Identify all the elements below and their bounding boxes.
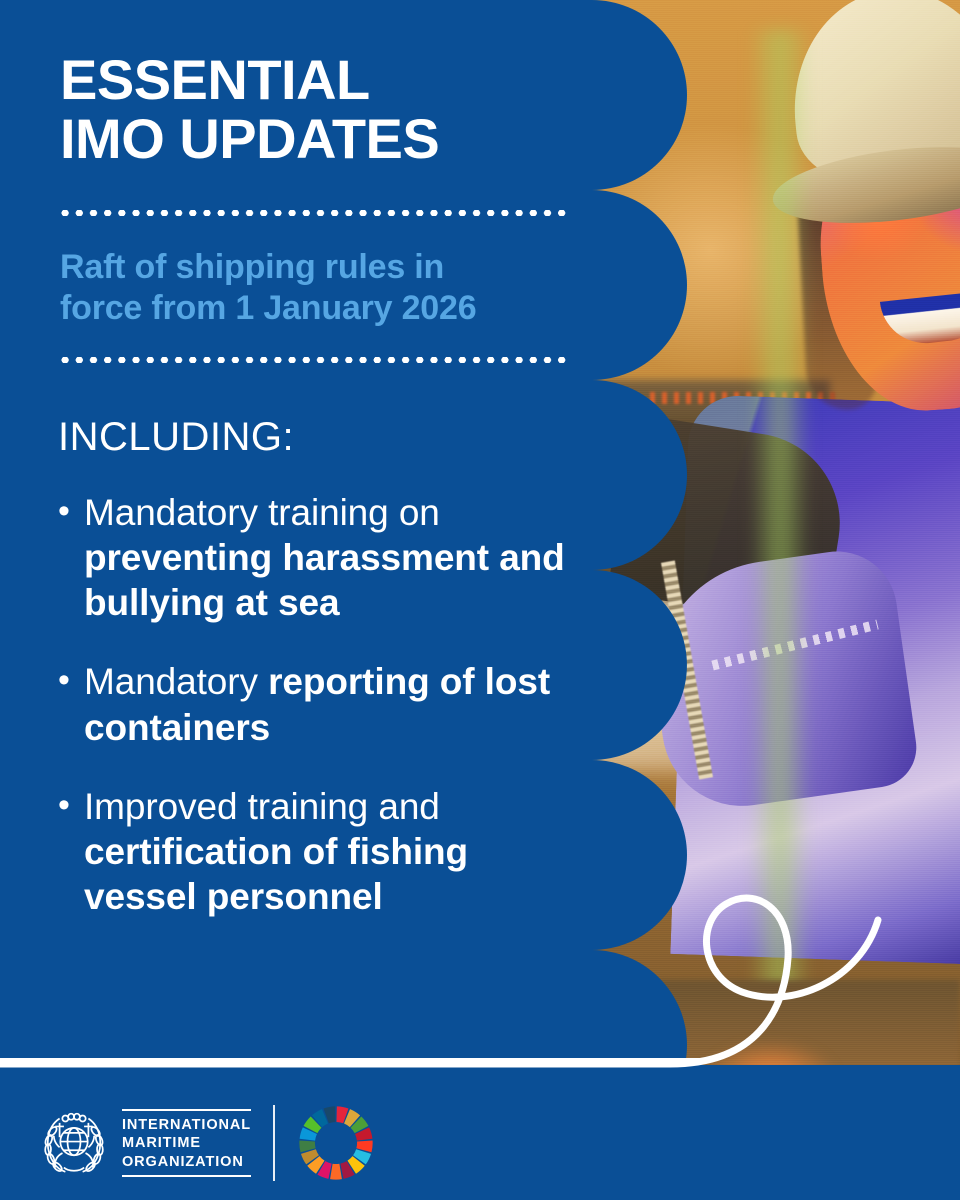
list-item: Mandatory training on preventing harassm… [58,490,578,625]
bullet-bold-text: preventing harassment and bullying at se… [84,537,565,623]
bullet-regular-text: Improved training and [84,786,440,827]
poster-canvas: ESSENTIAL IMO UPDATES Raft of shipping r… [0,0,960,1200]
imo-logo: INTERNATIONAL MARITIME ORGANIZATION [38,1107,251,1179]
bullet-regular-text: Mandatory training on [84,492,440,533]
imo-wordmark: INTERNATIONAL MARITIME ORGANIZATION [122,1109,251,1176]
headline-line-1: ESSENTIAL [60,48,370,111]
sdg-segment [330,1164,342,1180]
imo-wordmark-line-2: MARITIME [122,1134,251,1152]
imo-emblem-icon [38,1107,110,1179]
headline-line-2: IMO UPDATES [60,109,439,168]
footer-logos: INTERNATIONAL MARITIME ORGANIZATION [38,1104,375,1182]
subtitle-line-1: Raft of shipping rules in [60,248,444,286]
logo-divider [273,1105,275,1181]
dotted-divider-bottom [58,357,568,363]
subtitle: Raft of shipping rules in force from 1 J… [60,247,590,330]
sdg-wheel-icon [297,1104,375,1182]
dotted-divider-top [58,210,568,216]
list-item: Mandatory reporting of lost containers [58,659,578,749]
bullet-regular-text: Mandatory [84,661,268,702]
updates-list: Mandatory training on preventing harassm… [58,490,578,953]
wave-curve-icon [560,880,960,1100]
including-label: INCLUDING: [58,415,294,460]
list-item: Improved training and certification of f… [58,784,578,919]
subtitle-line-2: force from 1 January 2026 [60,289,476,327]
page-title: ESSENTIAL IMO UPDATES [60,50,439,169]
bullet-bold-text: certification of fishing vessel personne… [84,831,468,917]
imo-wordmark-line-1: INTERNATIONAL [122,1116,251,1134]
imo-wordmark-line-3: ORGANIZATION [122,1153,251,1171]
